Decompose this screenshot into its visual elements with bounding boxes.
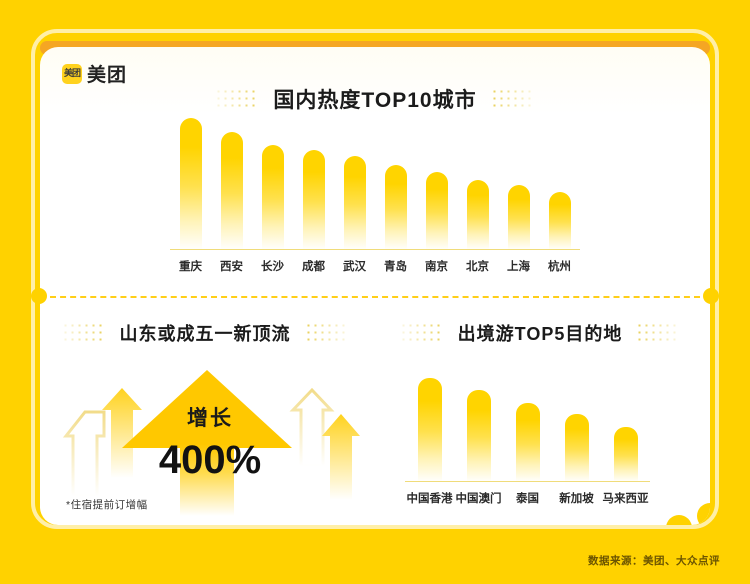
divider-dashed-line <box>50 296 700 298</box>
corner-notch-secondary <box>666 515 692 525</box>
growth-value: 400% <box>60 438 360 483</box>
bar-column <box>457 118 498 250</box>
bar-column <box>552 378 601 482</box>
bar-column <box>405 378 454 482</box>
growth-footnote: *住宿提前订增幅 <box>66 497 148 512</box>
category-label: 北京 <box>457 258 498 274</box>
corner-notch <box>697 503 710 525</box>
dot-grid-decoration-icon <box>491 88 535 110</box>
category-label: 上海 <box>498 258 539 274</box>
bar <box>467 180 489 250</box>
category-label: 西安 <box>211 258 252 274</box>
domestic-top10-bar-chart: 重庆西安长沙成都武汉青岛南京北京上海杭州 <box>170 118 580 264</box>
bar <box>516 403 540 482</box>
bottom-left-title-text: 山东或成五一新顶流 <box>120 320 291 346</box>
category-label: 杭州 <box>539 258 580 274</box>
bar-column <box>498 118 539 250</box>
chart-baseline <box>170 249 580 251</box>
category-label: 重庆 <box>170 258 211 274</box>
chart-category-labels: 重庆西安长沙成都武汉青岛南京北京上海杭州 <box>170 258 580 274</box>
bar-column <box>454 378 503 482</box>
dot-grid-decoration-icon <box>400 322 444 344</box>
category-label: 武汉 <box>334 258 375 274</box>
growth-label: 增长 <box>60 402 360 432</box>
bar <box>467 390 491 482</box>
bar-column <box>293 118 334 250</box>
bottom-right-title-text: 出境游TOP5目的地 <box>458 320 623 346</box>
category-label: 马来西亚 <box>601 490 650 506</box>
brand-name: 美团 <box>87 60 127 87</box>
dot-grid-decoration-icon <box>62 322 106 344</box>
category-label: 泰国 <box>503 490 552 506</box>
bar <box>549 192 571 250</box>
divider-notch-right <box>703 288 719 304</box>
bar <box>180 118 202 250</box>
bar-column <box>601 378 650 482</box>
top-title-text: 国内热度TOP10城市 <box>273 84 476 114</box>
meituan-badge-icon: 美团 <box>62 64 82 84</box>
bar <box>385 165 407 250</box>
category-label: 青岛 <box>375 258 416 274</box>
bar <box>418 378 442 482</box>
bar <box>221 132 243 250</box>
bar-column <box>375 118 416 250</box>
category-label: 成都 <box>293 258 334 274</box>
poster-root: 美团 美团 国内热度TOP10城市 重庆西安长沙成都武汉青岛南京北京上海杭州 山… <box>0 0 750 584</box>
bar <box>303 150 325 250</box>
dot-grid-decoration-icon <box>215 88 259 110</box>
category-label: 中国香港 <box>405 490 454 506</box>
bar-column <box>539 118 580 250</box>
brand-logo: 美团 美团 <box>62 60 127 87</box>
bar <box>508 185 530 250</box>
chart-plot-area <box>170 118 580 250</box>
bar <box>426 172 448 250</box>
bar-column <box>252 118 293 250</box>
chart-baseline <box>405 481 650 483</box>
category-label: 中国澳门 <box>454 490 503 506</box>
top-section-title: 国内热度TOP10城市 <box>0 84 750 114</box>
divider-notch-left <box>31 288 47 304</box>
bar <box>565 414 589 482</box>
dot-grid-decoration-icon <box>305 322 349 344</box>
bottom-left-section-title: 山东或成五一新顶流 <box>45 320 365 346</box>
bar <box>614 427 638 482</box>
bar-column <box>170 118 211 250</box>
growth-arrow-graphic: 增长 400% <box>60 366 360 516</box>
category-label: 新加坡 <box>552 490 601 506</box>
chart-category-labels: 中国香港中国澳门泰国新加坡马来西亚 <box>405 490 650 506</box>
bar <box>344 156 366 250</box>
bar <box>262 145 284 250</box>
section-divider <box>40 296 710 298</box>
dot-grid-decoration-icon <box>636 322 680 344</box>
outbound-top5-bar-chart: 中国香港中国澳门泰国新加坡马来西亚 <box>405 378 650 496</box>
data-source-note: 数据来源：美团、大众点评 <box>588 553 720 568</box>
bar-column <box>334 118 375 250</box>
bar-column <box>211 118 252 250</box>
bar-column <box>503 378 552 482</box>
bottom-right-section-title: 出境游TOP5目的地 <box>380 320 700 346</box>
category-label: 长沙 <box>252 258 293 274</box>
bar-column <box>416 118 457 250</box>
chart-plot-area <box>405 378 650 482</box>
category-label: 南京 <box>416 258 457 274</box>
